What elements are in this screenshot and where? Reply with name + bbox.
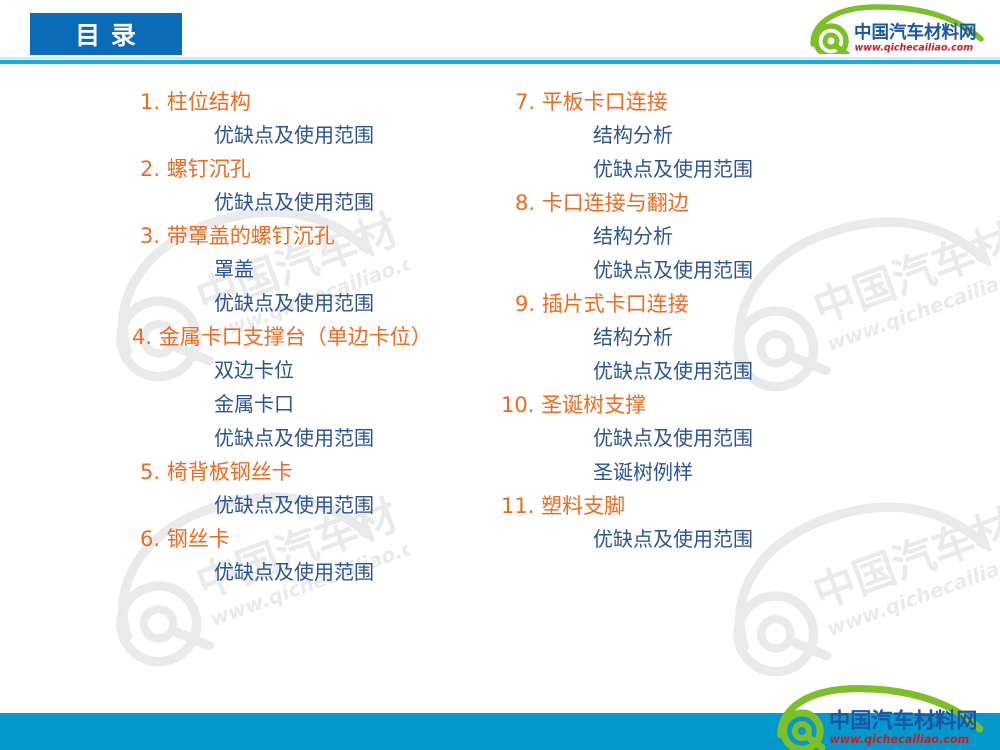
- toc-item-6-num: 6.: [140, 527, 160, 551]
- toc-item-9-num: 9.: [515, 292, 535, 316]
- toc-item-2-num: 2.: [140, 157, 160, 181]
- toc-item-7-sub-1[interactable]: 结构分析: [515, 125, 915, 145]
- toc-item-4-sub-1[interactable]: 双边卡位: [140, 360, 510, 380]
- toc-item-6-title: 钢丝卡: [167, 527, 230, 551]
- toc-item-9-sub-1[interactable]: 结构分析: [515, 327, 915, 347]
- toc-item-11-title: 塑料支脚: [541, 494, 625, 518]
- toc-item-11-sub-1[interactable]: 优缺点及使用范围: [515, 529, 915, 549]
- toc-item-2-sub-1[interactable]: 优缺点及使用范围: [140, 192, 510, 212]
- toc-item-3-sub-2[interactable]: 优缺点及使用范围: [140, 293, 510, 313]
- toc-item-6-sub-1[interactable]: 优缺点及使用范围: [140, 562, 510, 582]
- toc-left-column: 1. 柱位结构 优缺点及使用范围 2. 螺钉沉孔 优缺点及使用范围 3. 带罩盖…: [140, 92, 510, 596]
- slide-canvas: 中国汽车材料网 www.qichecailiao.com 中国汽车材料网 www…: [0, 0, 1000, 750]
- header-divider-light: [0, 57, 1000, 59]
- toc-item-8-sub-2[interactable]: 优缺点及使用范围: [515, 260, 915, 280]
- toc-item-3-num: 3.: [140, 224, 160, 248]
- toc-group: 7. 平板卡口连接 结构分析 优缺点及使用范围: [515, 92, 915, 179]
- brand-logo-top: 中国汽车材料网 www.qichecailiao.com: [798, 2, 994, 54]
- toc-item-5-num: 5.: [140, 460, 160, 484]
- toc-right-column: 7. 平板卡口连接 结构分析 优缺点及使用范围 8. 卡口连接与翻边 结构分析 …: [515, 92, 915, 563]
- svg-text:www.qichecailiao.com: www.qichecailiao.com: [855, 43, 974, 54]
- toc-item-1-num: 1.: [140, 90, 160, 114]
- toc-item-4-sub-2[interactable]: 金属卡口: [140, 394, 510, 414]
- toc-item-4[interactable]: 4. 金属卡口支撑台（单边卡位）: [132, 327, 510, 348]
- toc-group: 10. 圣诞树支撑 优缺点及使用范围 圣诞树例样: [515, 395, 915, 482]
- toc-item-6[interactable]: 6. 钢丝卡: [140, 529, 510, 550]
- toc-group: 11. 塑料支脚 优缺点及使用范围: [515, 496, 915, 549]
- toc-item-10[interactable]: 10. 圣诞树支撑: [501, 395, 915, 416]
- toc-item-1-title: 柱位结构: [167, 90, 251, 114]
- brand-logo-bottom: 中国汽车材料网 www.qichecailiao.com: [761, 684, 996, 750]
- toc-item-5[interactable]: 5. 椅背板钢丝卡: [140, 462, 510, 483]
- toc-group: 4. 金属卡口支撑台（单边卡位） 双边卡位 金属卡口 优缺点及使用范围: [140, 327, 510, 448]
- toc-item-3[interactable]: 3. 带罩盖的螺钉沉孔: [140, 226, 510, 247]
- page-title: 目 录: [75, 16, 137, 52]
- toc-item-7-num: 7.: [515, 90, 535, 114]
- toc-columns: 1. 柱位结构 优缺点及使用范围 2. 螺钉沉孔 优缺点及使用范围 3. 带罩盖…: [0, 92, 1000, 692]
- toc-item-4-title: 金属卡口支撑台（单边卡位）: [159, 325, 432, 349]
- toc-item-10-sub-2[interactable]: 圣诞树例样: [515, 462, 915, 482]
- toc-item-8-title: 卡口连接与翻边: [542, 191, 689, 215]
- toc-group: 8. 卡口连接与翻边 结构分析 优缺点及使用范围: [515, 193, 915, 280]
- toc-item-10-sub-1[interactable]: 优缺点及使用范围: [515, 428, 915, 448]
- toc-item-5-title: 椅背板钢丝卡: [167, 460, 293, 484]
- toc-item-7-title: 平板卡口连接: [542, 90, 668, 114]
- page-title-box: 目 录: [30, 13, 182, 55]
- toc-item-11-num: 11.: [501, 494, 534, 518]
- toc-item-9-title: 插片式卡口连接: [542, 292, 689, 316]
- toc-item-9-sub-2[interactable]: 优缺点及使用范围: [515, 361, 915, 381]
- toc-item-2-title: 螺钉沉孔: [167, 157, 251, 181]
- toc-group: 1. 柱位结构 优缺点及使用范围: [140, 92, 510, 145]
- toc-group: 5. 椅背板钢丝卡 优缺点及使用范围: [140, 462, 510, 515]
- toc-item-4-sub-3[interactable]: 优缺点及使用范围: [140, 428, 510, 448]
- toc-item-10-title: 圣诞树支撑: [541, 393, 646, 417]
- toc-group: 6. 钢丝卡 优缺点及使用范围: [140, 529, 510, 582]
- toc-item-11[interactable]: 11. 塑料支脚: [501, 496, 915, 517]
- toc-item-10-num: 10.: [501, 393, 534, 417]
- svg-text:中国汽车材料网: 中国汽车材料网: [854, 22, 977, 43]
- toc-item-2[interactable]: 2. 螺钉沉孔: [140, 159, 510, 180]
- toc-item-9[interactable]: 9. 插片式卡口连接: [515, 294, 915, 315]
- toc-item-7[interactable]: 7. 平板卡口连接: [515, 92, 915, 113]
- toc-item-8[interactable]: 8. 卡口连接与翻边: [515, 193, 915, 214]
- toc-item-8-sub-1[interactable]: 结构分析: [515, 226, 915, 246]
- toc-item-3-title: 带罩盖的螺钉沉孔: [167, 224, 335, 248]
- toc-item-5-sub-1[interactable]: 优缺点及使用范围: [140, 495, 510, 515]
- toc-item-7-sub-2[interactable]: 优缺点及使用范围: [515, 159, 915, 179]
- toc-item-4-num: 4.: [132, 325, 152, 349]
- toc-item-8-num: 8.: [515, 191, 535, 215]
- header-divider: [0, 60, 1000, 64]
- toc-group: 3. 带罩盖的螺钉沉孔 罩盖 优缺点及使用范围: [140, 226, 510, 313]
- toc-group: 9. 插片式卡口连接 结构分析 优缺点及使用范围: [515, 294, 915, 381]
- toc-group: 2. 螺钉沉孔 优缺点及使用范围: [140, 159, 510, 212]
- toc-item-3-sub-1[interactable]: 罩盖: [140, 259, 510, 279]
- svg-text:中国汽车材料网: 中国汽车材料网: [829, 708, 977, 734]
- toc-item-1[interactable]: 1. 柱位结构: [140, 92, 510, 113]
- toc-item-1-sub-1[interactable]: 优缺点及使用范围: [140, 125, 510, 145]
- svg-text:www.qichecailiao.com: www.qichecailiao.com: [830, 733, 970, 746]
